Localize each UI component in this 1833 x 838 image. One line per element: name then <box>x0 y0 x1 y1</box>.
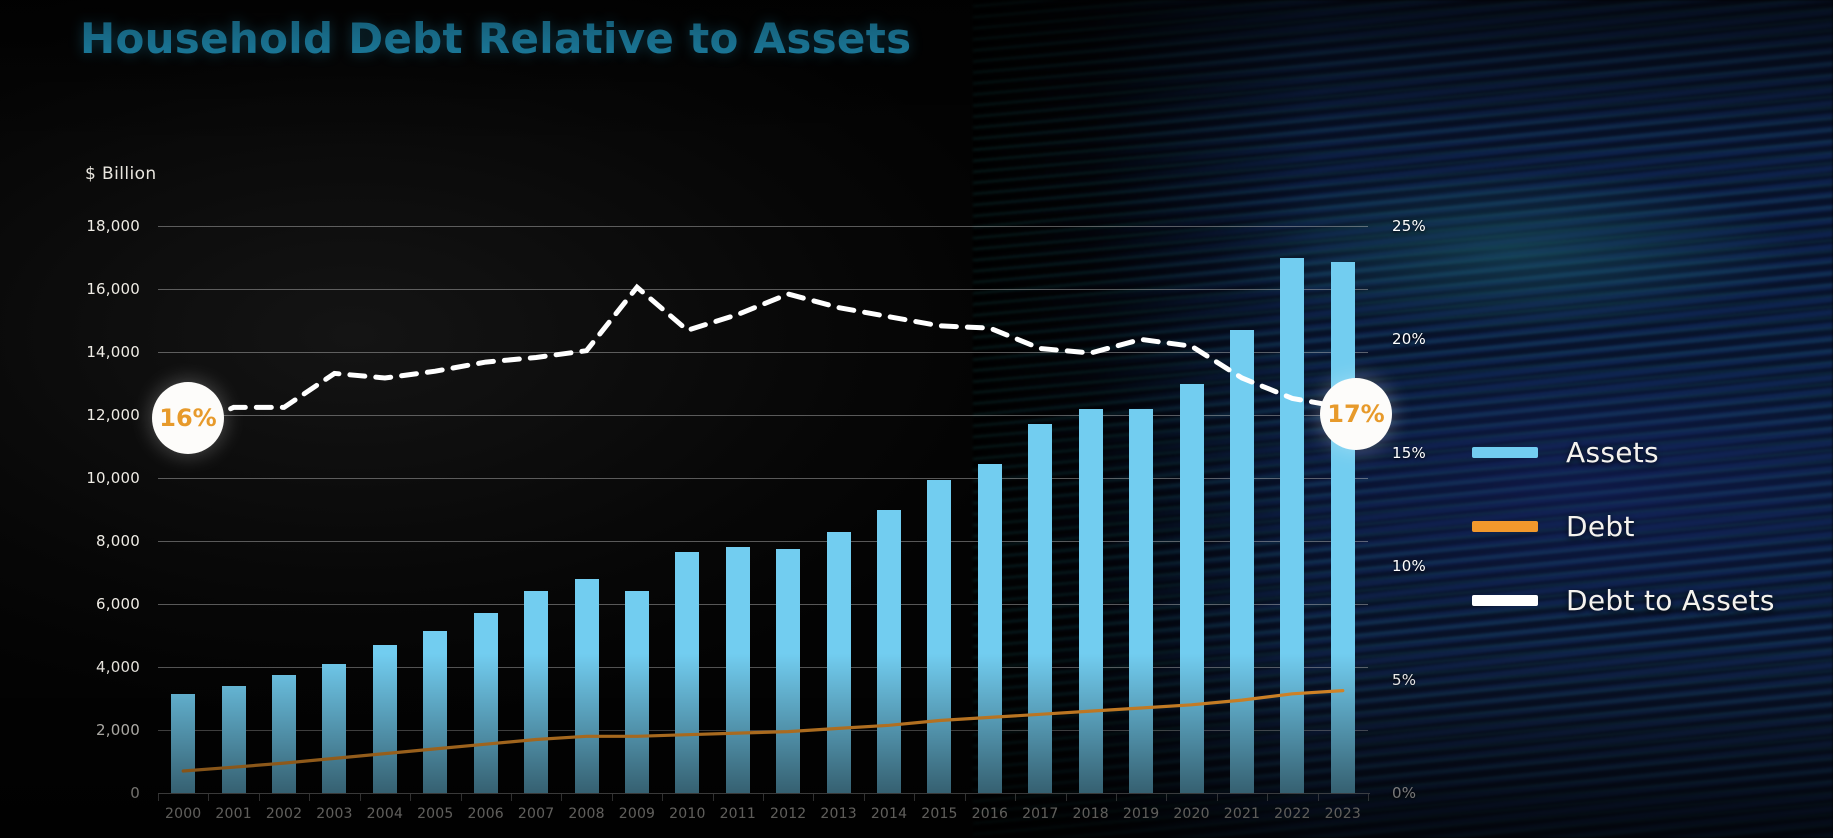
y-axis-tick-label: 18,000 <box>60 217 140 235</box>
bar <box>1129 409 1153 793</box>
y-axis-tick-label: 6,000 <box>60 595 140 613</box>
y-axis-tick-label: 16,000 <box>60 280 140 298</box>
x-axis-tick <box>410 794 411 801</box>
y-axis-tick-label: 0 <box>60 784 140 802</box>
bar <box>1079 409 1103 793</box>
y2-axis-tick-label: 15% <box>1392 444 1426 462</box>
bar <box>827 532 851 793</box>
x-axis-tick <box>259 794 260 801</box>
bar <box>1230 330 1254 793</box>
chart-legend: AssetsDebtDebt to Assets <box>1472 415 1775 637</box>
x-axis-tick <box>864 794 865 801</box>
y2-axis-tick-label: 0% <box>1392 784 1416 802</box>
bar <box>222 686 246 793</box>
legend-item-debt[interactable]: Debt <box>1472 489 1775 563</box>
bar <box>423 631 447 793</box>
bar <box>978 464 1002 793</box>
bar <box>524 591 548 793</box>
x-axis-tick <box>914 794 915 801</box>
y-axis-tick-label: 10,000 <box>60 469 140 487</box>
x-axis-tick <box>461 794 462 801</box>
legend-item-assets[interactable]: Assets <box>1472 415 1775 489</box>
legend-swatch <box>1472 595 1538 606</box>
x-axis-tick <box>1368 794 1369 801</box>
y-axis-tick-label: 2,000 <box>60 721 140 739</box>
gridline <box>158 352 1368 353</box>
bar <box>322 664 346 793</box>
y-axis-tick-label: 12,000 <box>60 406 140 424</box>
x-axis-tick <box>561 794 562 801</box>
x-axis-tick <box>158 794 159 801</box>
x-axis-tick <box>662 794 663 801</box>
x-axis-tick <box>1267 794 1268 801</box>
y2-axis-tick-label: 25% <box>1392 217 1426 235</box>
bar <box>877 510 901 794</box>
y2-axis-tick-label: 10% <box>1392 557 1426 575</box>
x-axis-tick <box>1015 794 1016 801</box>
y-axis-unit-label: $ Billion <box>85 164 157 184</box>
y-axis-tick-label: 8,000 <box>60 532 140 550</box>
gridline <box>158 226 1368 227</box>
x-axis-tick <box>1217 794 1218 801</box>
legend-swatch <box>1472 521 1538 532</box>
legend-label: Assets <box>1566 436 1659 469</box>
y-axis-tick-label: 14,000 <box>60 343 140 361</box>
x-axis-tick <box>1116 794 1117 801</box>
x-axis-tick <box>511 794 512 801</box>
callout-badge-end: 17% <box>1320 378 1392 450</box>
bar <box>927 480 951 793</box>
bar <box>373 645 397 793</box>
x-axis-tick-label: 2023 <box>1313 806 1373 822</box>
y-axis-tick-label: 4,000 <box>60 658 140 676</box>
bar <box>675 552 699 793</box>
y2-axis-tick-label: 20% <box>1392 330 1426 348</box>
bar <box>474 613 498 793</box>
bar <box>1280 258 1304 794</box>
line-debt-to-assets <box>183 287 1343 430</box>
x-axis-tick <box>1318 794 1319 801</box>
bar <box>1331 262 1355 793</box>
x-axis-tick <box>813 794 814 801</box>
bar <box>726 547 750 793</box>
x-axis-tick <box>208 794 209 801</box>
x-axis-tick <box>713 794 714 801</box>
x-axis-tick <box>612 794 613 801</box>
bar <box>272 675 296 793</box>
x-axis-tick <box>1166 794 1167 801</box>
gridline <box>158 289 1368 290</box>
x-axis-tick <box>309 794 310 801</box>
legend-item-debt-to-assets[interactable]: Debt to Assets <box>1472 563 1775 637</box>
x-axis-tick <box>1066 794 1067 801</box>
callout-badge-start: 16% <box>152 382 224 454</box>
bar <box>575 579 599 793</box>
legend-label: Debt to Assets <box>1566 584 1775 617</box>
y2-axis-tick-label: 5% <box>1392 671 1416 689</box>
bar <box>1180 384 1204 794</box>
x-axis-tick <box>763 794 764 801</box>
bar <box>625 591 649 793</box>
x-axis-tick <box>360 794 361 801</box>
legend-swatch <box>1472 447 1538 458</box>
x-axis-tick <box>965 794 966 801</box>
x-axis-line <box>158 793 1370 794</box>
legend-label: Debt <box>1566 510 1635 543</box>
bar <box>1028 424 1052 793</box>
bar <box>776 549 800 793</box>
bar <box>171 694 195 793</box>
